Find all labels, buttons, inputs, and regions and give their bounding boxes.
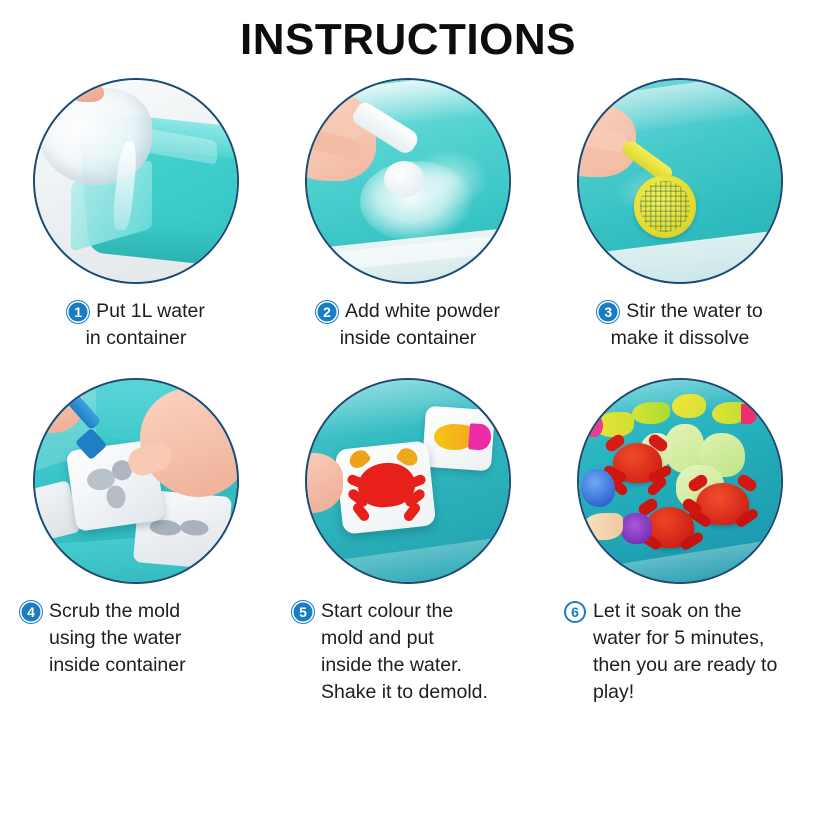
step-5-line-1: Start colour the (321, 598, 534, 625)
step-5-badge: 5 (292, 601, 314, 623)
steps-row-1: 1 Put 1L water in container (0, 78, 816, 352)
step-4: 4 Scrub the mold using the water inside … (0, 378, 272, 706)
step-6-line-1: Let it soak on the (593, 598, 806, 625)
step-1: 1 Put 1L water in container (0, 78, 272, 352)
step-3-caption: 3 Stir the water to make it dissolve (554, 298, 806, 352)
step-6-line-2: water for 5 minutes, (564, 625, 806, 652)
step-4-photo (33, 378, 239, 584)
step-2: 2 Add white powder inside container (272, 78, 544, 352)
step-5: 5 Start colour the mold and put inside t… (272, 378, 544, 706)
instructions-page: INSTRUCTIONS (0, 0, 816, 816)
step-6-line-4: play! (564, 679, 806, 706)
step-2-photo (305, 78, 511, 284)
step-4-caption: 4 Scrub the mold using the water inside … (10, 598, 262, 679)
step-6-photo (577, 378, 783, 584)
step-3-badge: 3 (597, 301, 619, 323)
step-6-line-3: then you are ready to (564, 652, 806, 679)
steps-grid: 1 Put 1L water in container (0, 78, 816, 706)
step-5-caption: 5 Start colour the mold and put inside t… (282, 598, 534, 706)
step-6-caption: 6 Let it soak on the water for 5 minutes… (554, 598, 806, 706)
step-5-line-3: inside the water. (292, 652, 534, 679)
step-1-photo (33, 78, 239, 284)
step-2-badge: 2 (316, 301, 338, 323)
step-3: 3 Stir the water to make it dissolve (544, 78, 816, 352)
step-6-badge: 6 (564, 601, 586, 623)
steps-row-2: 4 Scrub the mold using the water inside … (0, 378, 816, 706)
step-2-caption: 2 Add white powder inside container (282, 298, 534, 352)
step-4-line-2: using the water (20, 625, 262, 652)
step-1-line-1: Put 1L water (96, 298, 205, 325)
step-2-line-1: Add white powder (345, 298, 500, 325)
step-5-photo (305, 378, 511, 584)
step-4-line-3: inside container (20, 652, 262, 679)
step-1-caption: 1 Put 1L water in container (10, 298, 262, 352)
step-1-badge: 1 (67, 301, 89, 323)
page-title: INSTRUCTIONS (0, 14, 816, 66)
step-6: 6 Let it soak on the water for 5 minutes… (544, 378, 816, 706)
step-3-line-1: Stir the water to (626, 298, 763, 325)
step-3-photo (577, 78, 783, 284)
step-2-line-2: inside container (282, 325, 534, 352)
step-4-badge: 4 (20, 601, 42, 623)
step-5-line-2: mold and put (292, 625, 534, 652)
step-1-line-2: in container (10, 325, 262, 352)
step-5-line-4: Shake it to demold. (292, 679, 534, 706)
step-3-line-2: make it dissolve (554, 325, 806, 352)
step-4-line-1: Scrub the mold (49, 598, 262, 625)
